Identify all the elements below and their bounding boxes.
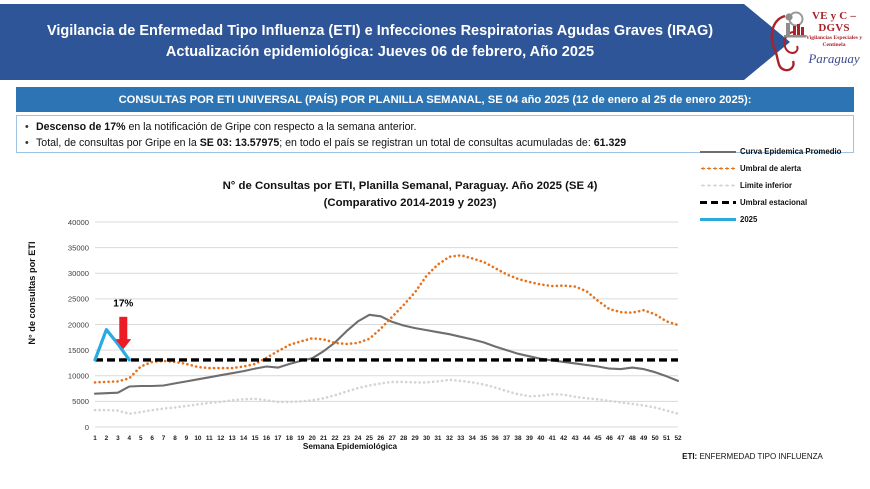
bullet-1-bold: Descenso de 17% [36, 121, 126, 133]
page-header: Vigilancia de Enfermedad Tipo Influenza … [0, 4, 870, 80]
bullet-2-bold-end: 61.329 [594, 137, 626, 149]
svg-text:18: 18 [286, 435, 294, 442]
svg-text:16: 16 [263, 435, 271, 442]
svg-text:17: 17 [274, 435, 282, 442]
svg-text:47: 47 [617, 435, 625, 442]
svg-text:2: 2 [105, 435, 109, 442]
svg-text:9: 9 [185, 435, 189, 442]
svg-text:15000: 15000 [68, 346, 89, 355]
svg-text:48: 48 [629, 435, 637, 442]
svg-text:13: 13 [229, 435, 237, 442]
svg-text:20000: 20000 [68, 320, 89, 329]
logo-title: VE y C – DGVS [799, 10, 869, 34]
svg-text:30: 30 [423, 435, 431, 442]
chart-legend: Curva Epidemica Promedio Umbral de alert… [700, 143, 868, 228]
svg-text:35: 35 [480, 435, 488, 442]
legend-item-2025: 2025 [700, 211, 868, 228]
legend-item-limite-inferior: Limite inferior [700, 177, 868, 194]
svg-text:49: 49 [640, 435, 648, 442]
svg-text:5000: 5000 [72, 397, 89, 406]
svg-text:40: 40 [537, 435, 545, 442]
bullet-marker: • [25, 135, 36, 151]
svg-text:3: 3 [116, 435, 120, 442]
legend-key-solid-gray [700, 147, 736, 157]
legend-key-dotted-gray [700, 181, 736, 191]
svg-text:14: 14 [240, 435, 248, 442]
bullet-2-bold-mid: SE 03: 13.57975 [200, 137, 280, 149]
svg-text:7: 7 [162, 435, 166, 442]
svg-text:23: 23 [343, 435, 351, 442]
legend-key-dashed-black [700, 198, 736, 208]
legend-item-promedio: Curva Epidemica Promedio [700, 143, 868, 160]
svg-text:38: 38 [514, 435, 522, 442]
logo-text-block: VE y C – DGVS Vigilancias Especiales y C… [799, 10, 869, 67]
footnote-bold: ETI: [682, 452, 697, 461]
svg-text:24: 24 [354, 435, 362, 442]
svg-text:34: 34 [469, 435, 477, 442]
legend-key-dotted-orange [700, 164, 736, 174]
logo-country: Paraguay [799, 51, 869, 67]
svg-text:6: 6 [150, 435, 154, 442]
svg-text:10: 10 [194, 435, 202, 442]
logo-subtitle: Vigilancias Especiales y Centinela [799, 35, 869, 49]
legend-label: 2025 [740, 215, 757, 224]
svg-text:30000: 30000 [68, 269, 89, 278]
svg-text:12: 12 [217, 435, 225, 442]
svg-text:42: 42 [560, 435, 568, 442]
svg-text:20: 20 [309, 435, 317, 442]
svg-text:11: 11 [206, 435, 213, 442]
svg-text:21: 21 [320, 435, 328, 442]
bullet-marker: • [25, 119, 36, 135]
legend-label: Curva Epidemica Promedio [740, 147, 841, 156]
svg-text:28: 28 [400, 435, 408, 442]
svg-text:0: 0 [85, 423, 89, 432]
legend-item-umbral-estacional: Umbral estacional [700, 194, 868, 211]
svg-text:45: 45 [594, 435, 602, 442]
svg-text:36: 36 [492, 435, 500, 442]
bullet-item-1: •Descenso de 17% en la notificación de G… [25, 119, 845, 135]
bullet-2-pre: Total, de consultas por Gripe en la [36, 137, 200, 149]
svg-text:22: 22 [332, 435, 340, 442]
svg-text:27: 27 [389, 435, 397, 442]
svg-text:19: 19 [297, 435, 305, 442]
svg-text:52: 52 [674, 435, 682, 442]
svg-text:1: 1 [93, 435, 97, 442]
svg-text:33: 33 [457, 435, 465, 442]
svg-text:43: 43 [572, 435, 580, 442]
institution-logo: VE y C – DGVS Vigilancias Especiales y C… [765, 6, 870, 80]
svg-text:40000: 40000 [68, 218, 89, 227]
svg-text:25: 25 [366, 435, 374, 442]
svg-text:31: 31 [434, 435, 442, 442]
header-title-line1: Vigilancia de Enfermedad Tipo Influenza … [47, 23, 713, 39]
chart-footnote: ETI: ENFERMEDAD TIPO INFLUENZA [640, 452, 865, 461]
svg-text:32: 32 [446, 435, 454, 442]
svg-text:8: 8 [173, 435, 177, 442]
svg-text:44: 44 [583, 435, 591, 442]
svg-text:35000: 35000 [68, 243, 89, 252]
svg-text:50: 50 [652, 435, 660, 442]
svg-text:5: 5 [139, 435, 143, 442]
chart-plot: 0500010000150002000025000300003500040000… [0, 160, 700, 460]
header-title: Vigilancia de Enfermedad Tipo Influenza … [15, 21, 775, 63]
section-band: CONSULTAS POR ETI UNIVERSAL (PAÍS) POR P… [16, 87, 854, 112]
legend-label: Umbral estacional [740, 198, 807, 207]
legend-item-umbral-alerta: Umbral de alerta [700, 160, 868, 177]
header-title-line2: Actualización epidemiológica: Jueves 06 … [25, 42, 735, 63]
header-banner: Vigilancia de Enfermedad Tipo Influenza … [0, 4, 790, 80]
legend-key-solid-blue [700, 215, 736, 225]
svg-text:41: 41 [549, 435, 557, 442]
svg-text:17%: 17% [113, 299, 133, 310]
svg-text:51: 51 [663, 435, 671, 442]
footnote-text: ENFERMEDAD TIPO INFLUENZA [697, 452, 823, 461]
legend-label: Limite inferior [740, 181, 792, 190]
svg-text:15: 15 [251, 435, 259, 442]
bullet-2-mid: ; en todo el país se registran un total … [279, 137, 593, 149]
svg-text:25000: 25000 [68, 295, 89, 304]
bullet-1-text: en la notificación de Gripe con respecto… [126, 121, 417, 133]
svg-text:46: 46 [606, 435, 614, 442]
svg-text:37: 37 [503, 435, 511, 442]
svg-text:26: 26 [377, 435, 385, 442]
svg-text:10000: 10000 [68, 372, 89, 381]
svg-text:29: 29 [412, 435, 420, 442]
legend-label: Umbral de alerta [740, 164, 801, 173]
svg-text:39: 39 [526, 435, 534, 442]
svg-text:4: 4 [128, 435, 132, 442]
